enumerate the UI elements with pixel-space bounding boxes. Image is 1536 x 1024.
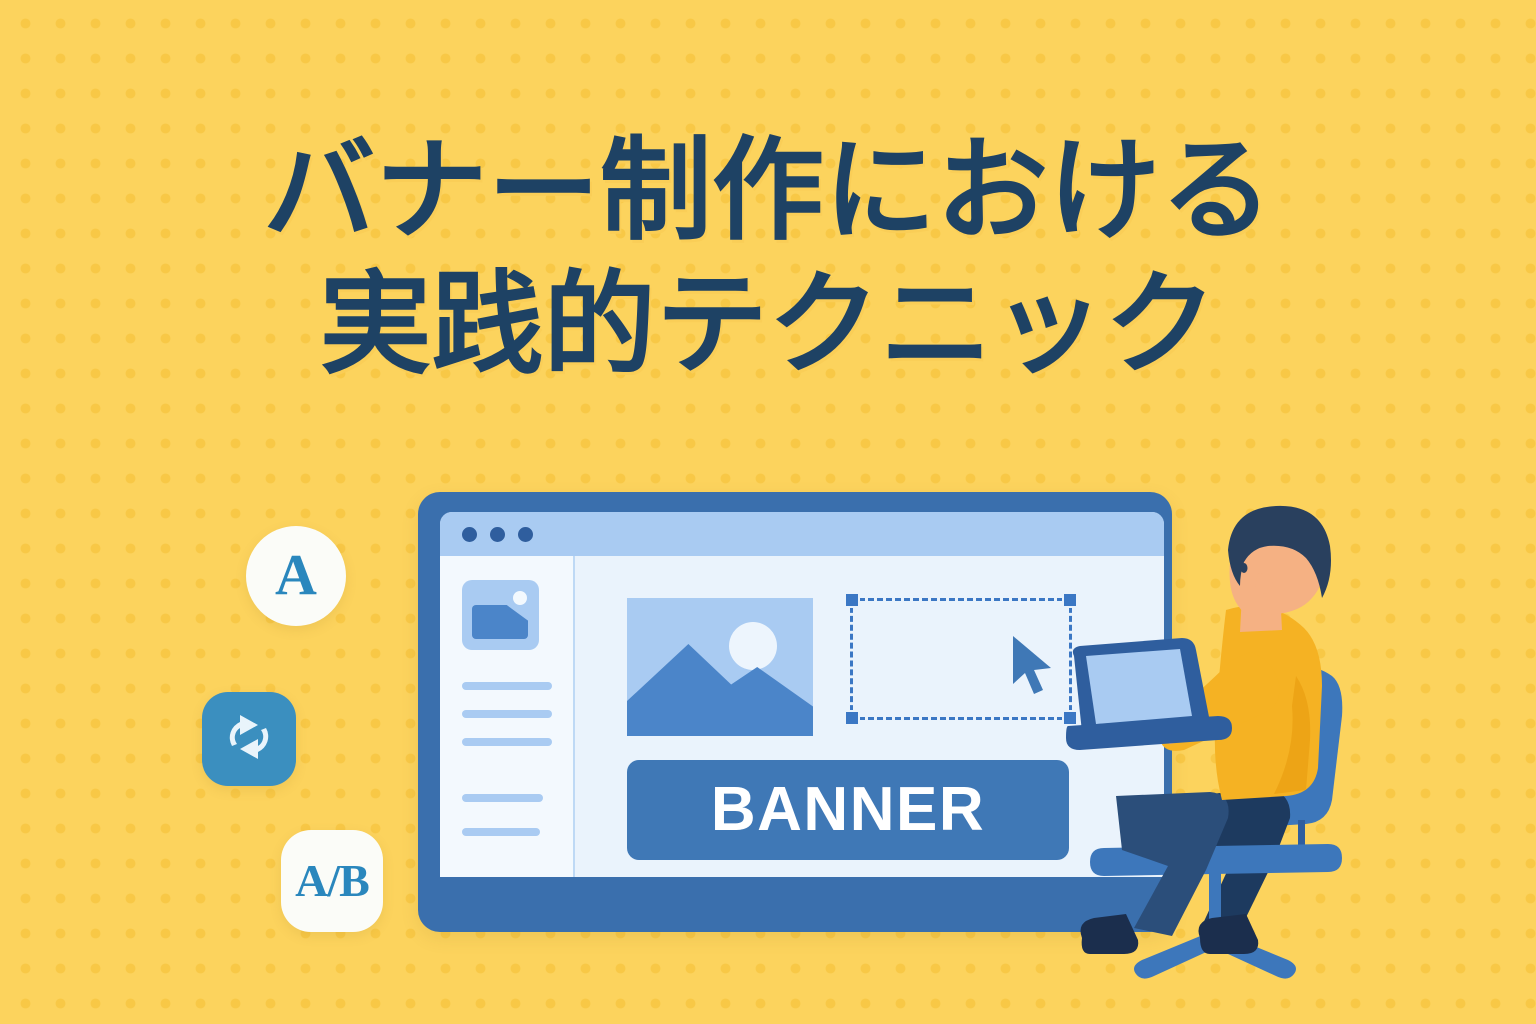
sidebar-line-4 [462, 794, 543, 802]
mouse-pointer-icon [1009, 634, 1065, 700]
photo-sun-icon [729, 622, 777, 670]
page-title-line-2: 実践的テクニック [0, 262, 1536, 390]
sidebar-line-2 [462, 710, 552, 718]
head-icon [1228, 506, 1331, 616]
sidebar-line-5 [462, 828, 540, 836]
ab-test-icon: A/B [295, 858, 369, 904]
window-dot-close-icon[interactable] [462, 527, 477, 542]
window-titlebar [440, 512, 1164, 556]
window-dot-maximize-icon[interactable] [518, 527, 533, 542]
thumbnail-shape-icon [472, 605, 528, 639]
sidebar-line-3 [462, 738, 552, 746]
photo-mountains-icon [627, 644, 813, 736]
refresh-arrows-icon [218, 706, 280, 773]
badge-ab-test[interactable]: A/B [281, 830, 383, 932]
badge-refresh[interactable] [202, 692, 296, 786]
banner-button-label: BANNER [711, 779, 985, 841]
sidebar-line-1 [462, 682, 552, 690]
page-title-line-1: バナー制作における [0, 128, 1536, 256]
page-title: バナー制作における 実践的テクニック [0, 128, 1536, 389]
window-dot-minimize-icon[interactable] [490, 527, 505, 542]
browser-window-mockup: BANNER [418, 492, 1172, 932]
mountain-photo-icon[interactable] [627, 598, 813, 736]
editor-sidebar [440, 556, 575, 877]
badge-typography[interactable]: A [246, 526, 346, 626]
selection-handle-bottom-left[interactable] [844, 710, 860, 726]
banner-illustration-canvas: バナー制作における 実践的テクニック A A/B [0, 0, 1536, 1024]
thumbnail-sun-icon [513, 591, 527, 605]
letter-a-icon: A [275, 546, 317, 604]
image-placeholder-icon[interactable] [462, 580, 539, 650]
person-at-laptop-icon [1060, 500, 1420, 980]
banner-button[interactable]: BANNER [627, 760, 1069, 860]
window-screen: BANNER [440, 512, 1164, 877]
selection-handle-top-left[interactable] [844, 592, 860, 608]
